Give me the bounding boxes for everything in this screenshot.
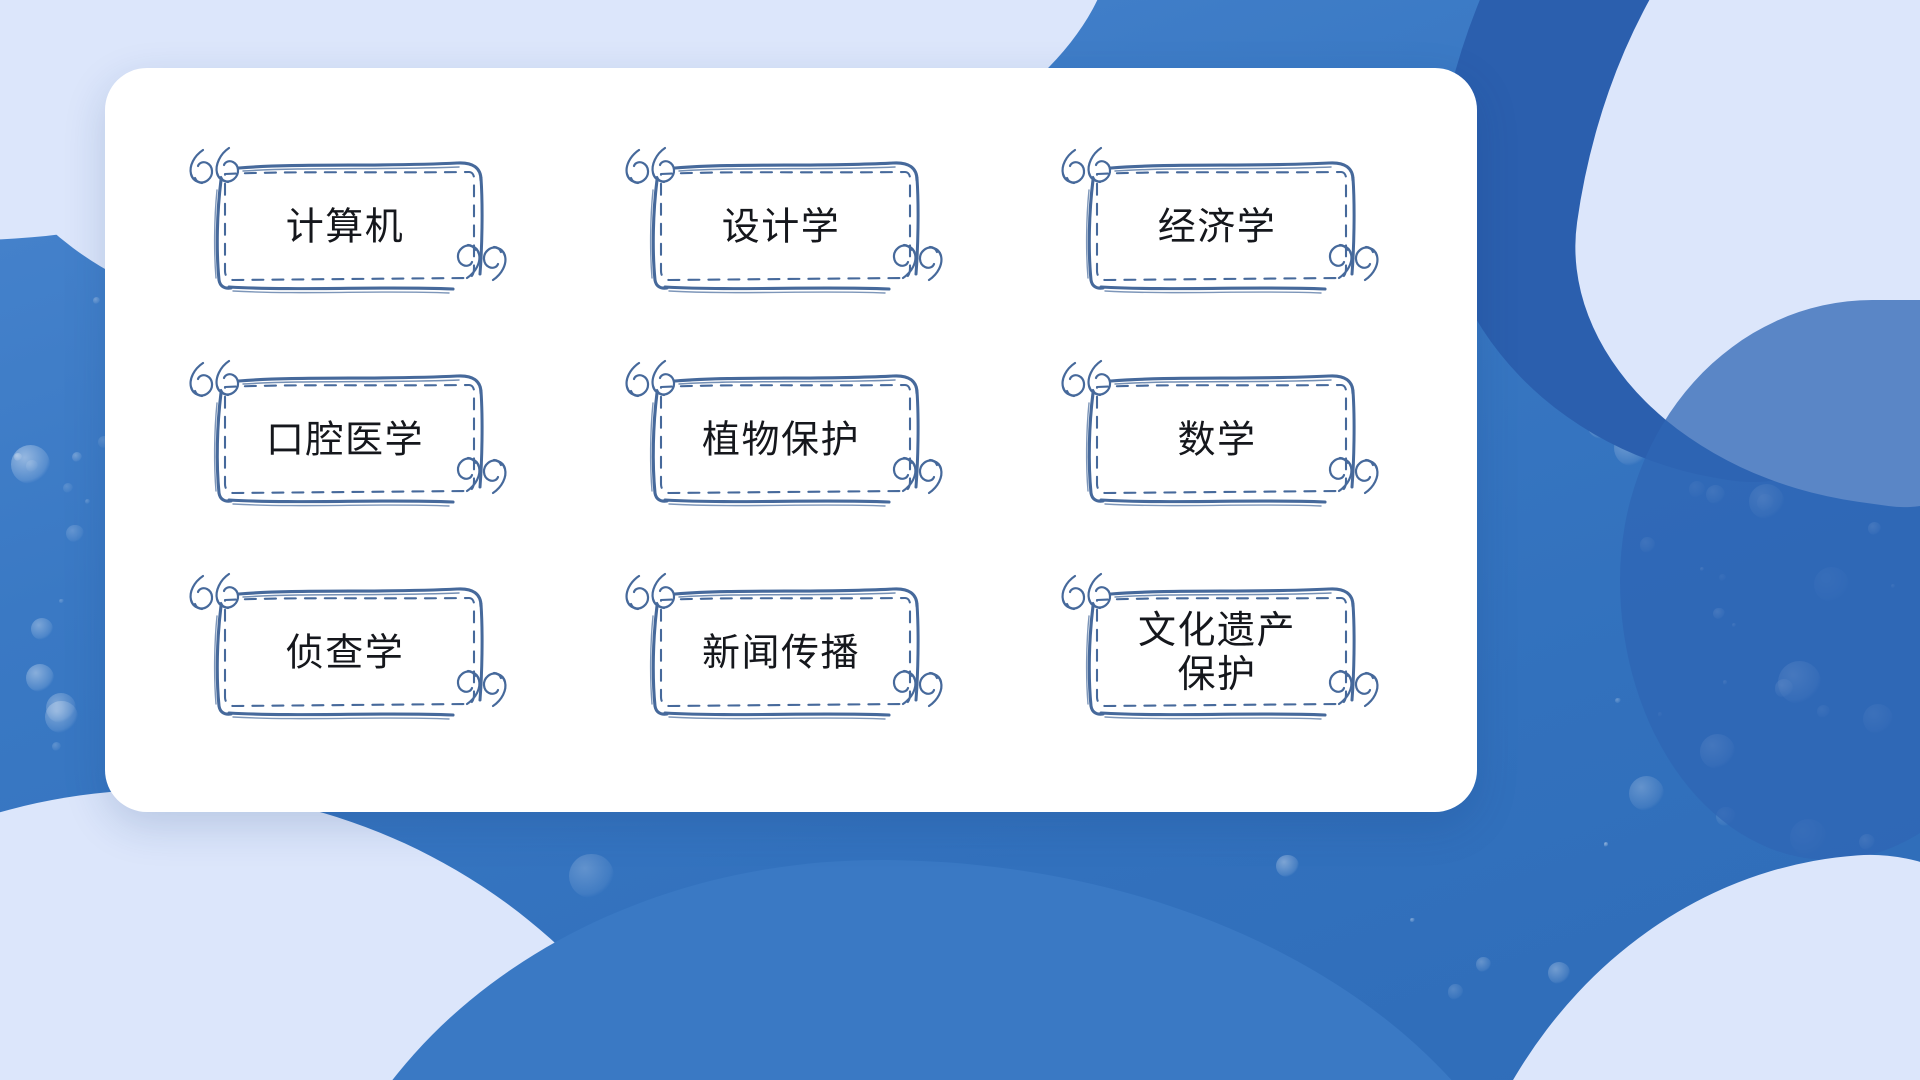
card-plant[interactable]: 植物保护 xyxy=(651,367,911,515)
quote-box-label: 口腔医学 xyxy=(215,419,475,464)
quote-box-label: 设计学 xyxy=(651,206,911,251)
card-heritage[interactable]: 文化遗产 保护 xyxy=(1087,580,1347,728)
card-detective[interactable]: 侦查学 xyxy=(215,580,475,728)
card-math[interactable]: 数学 xyxy=(1087,367,1347,515)
quote-box-grid: 计算机 设计学 xyxy=(193,130,1461,752)
quote-box-label: 数学 xyxy=(1087,419,1347,464)
card-computer[interactable]: 计算机 xyxy=(215,154,475,302)
content-card: 计算机 设计学 xyxy=(105,68,1477,812)
quote-box-label: 植物保护 xyxy=(651,419,911,464)
card-design[interactable]: 设计学 xyxy=(651,154,911,302)
card-economics[interactable]: 经济学 xyxy=(1087,154,1347,302)
quote-box-label: 经济学 xyxy=(1087,206,1347,251)
quote-box-label: 侦查学 xyxy=(215,631,475,676)
card-journalism[interactable]: 新闻传播 xyxy=(651,580,911,728)
quote-box-label: 新闻传播 xyxy=(651,631,911,676)
quote-box-label: 计算机 xyxy=(215,206,475,251)
quote-box-label: 文化遗产 保护 xyxy=(1087,609,1347,699)
card-stomatology[interactable]: 口腔医学 xyxy=(215,367,475,515)
